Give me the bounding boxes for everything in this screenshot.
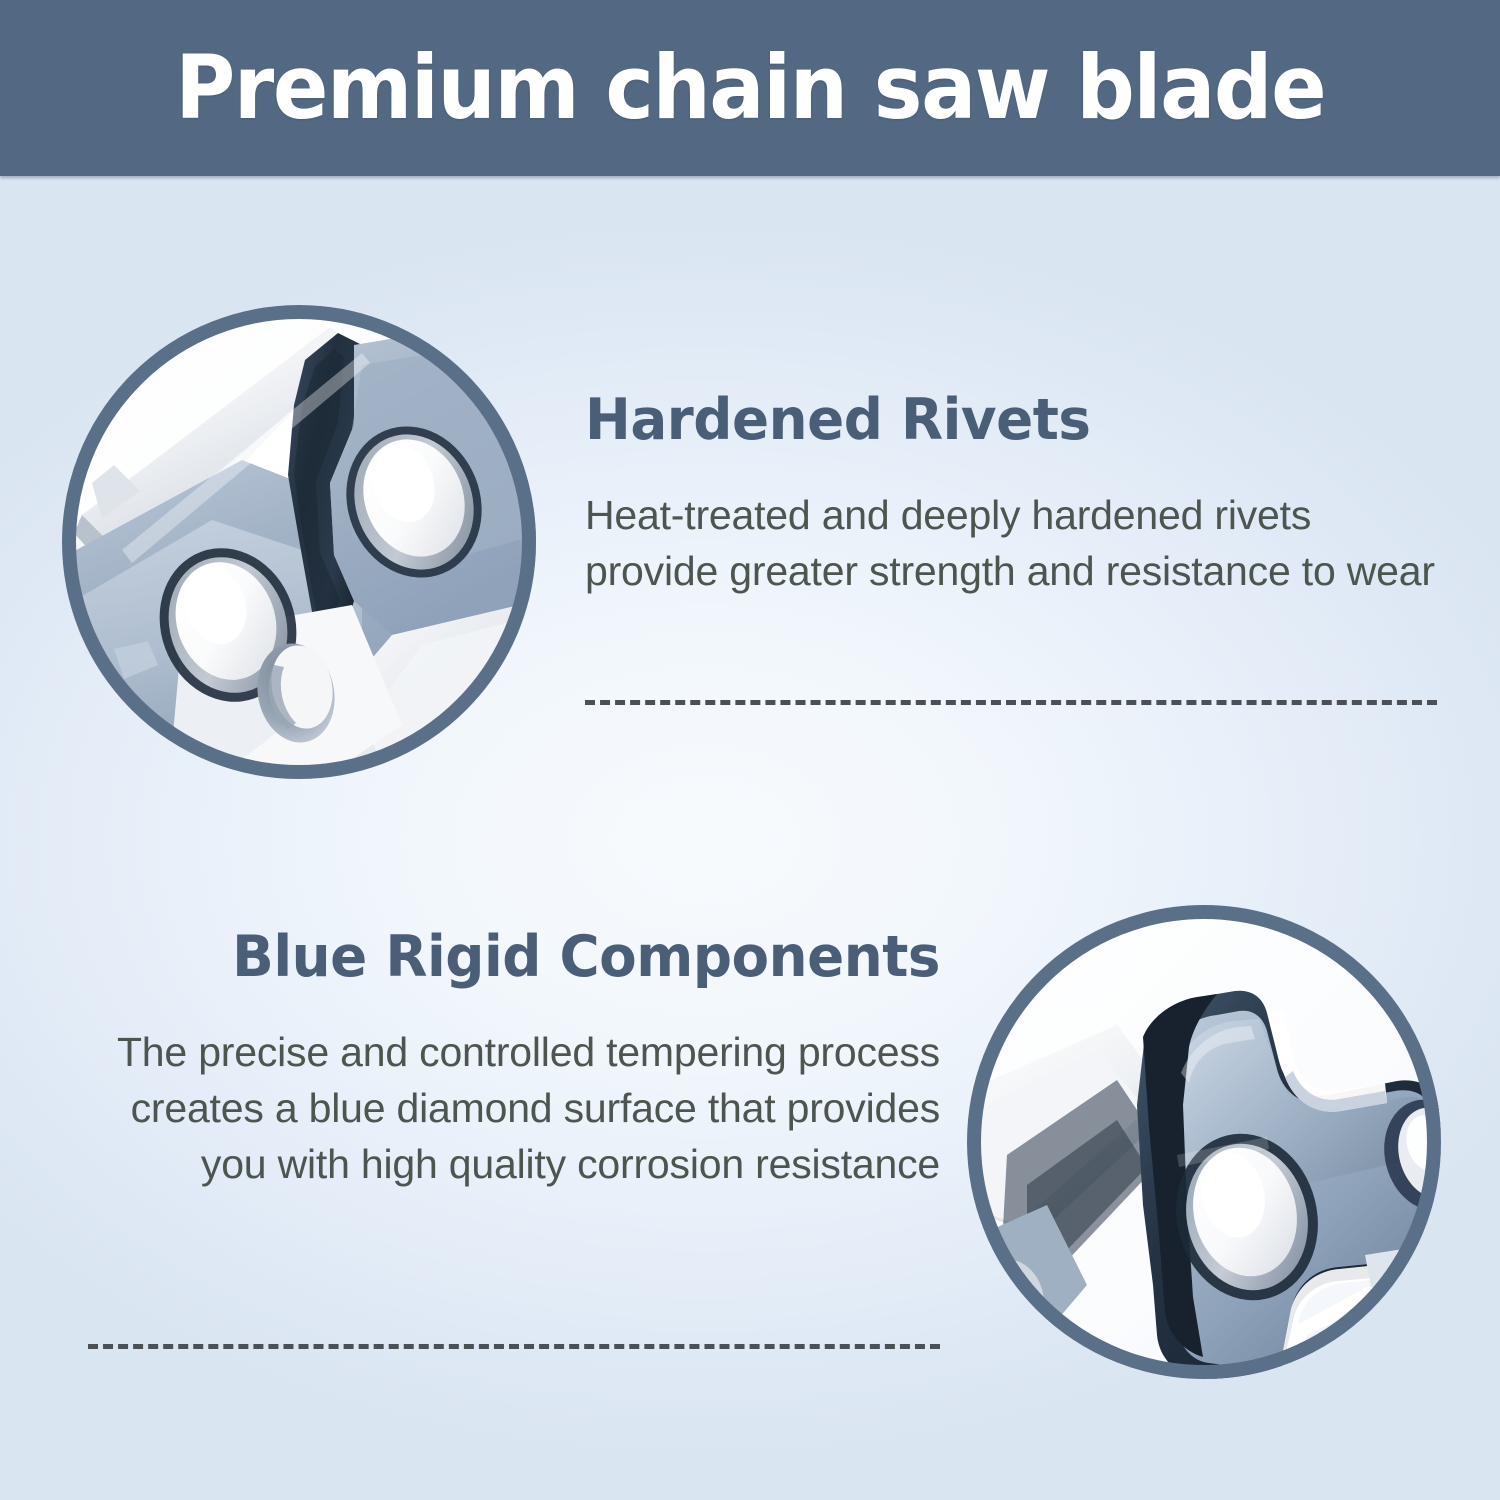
- product-photo-blue-link: [967, 905, 1441, 1379]
- feature-text-blue-rigid-components: Blue Rigid Components The precise and co…: [70, 926, 940, 1192]
- rivets-illustration: [62, 305, 536, 779]
- feature-block-hardened-rivets: Hardened Rivets Heat-treated and deeply …: [0, 176, 1500, 836]
- page-title: Premium chain saw blade: [175, 44, 1325, 132]
- section-divider: [585, 700, 1437, 705]
- section-divider: [88, 1344, 940, 1349]
- feature-heading: Blue Rigid Components: [105, 926, 940, 990]
- header-banner: Premium chain saw blade: [0, 0, 1500, 176]
- product-photo-rivets: [62, 305, 536, 779]
- feature-heading: Hardened Rivets: [585, 389, 1401, 453]
- feature-body: Heat-treated and deeply hardened rivets …: [585, 487, 1435, 599]
- feature-body: The precise and controlled tempering pro…: [70, 1024, 940, 1192]
- feature-block-blue-rigid-components: Blue Rigid Components The precise and co…: [0, 836, 1500, 1500]
- blue-link-illustration: [967, 905, 1441, 1379]
- feature-text-hardened-rivets: Hardened Rivets Heat-treated and deeply …: [585, 389, 1435, 599]
- product-infographic: Premium chain saw blade: [0, 0, 1500, 1500]
